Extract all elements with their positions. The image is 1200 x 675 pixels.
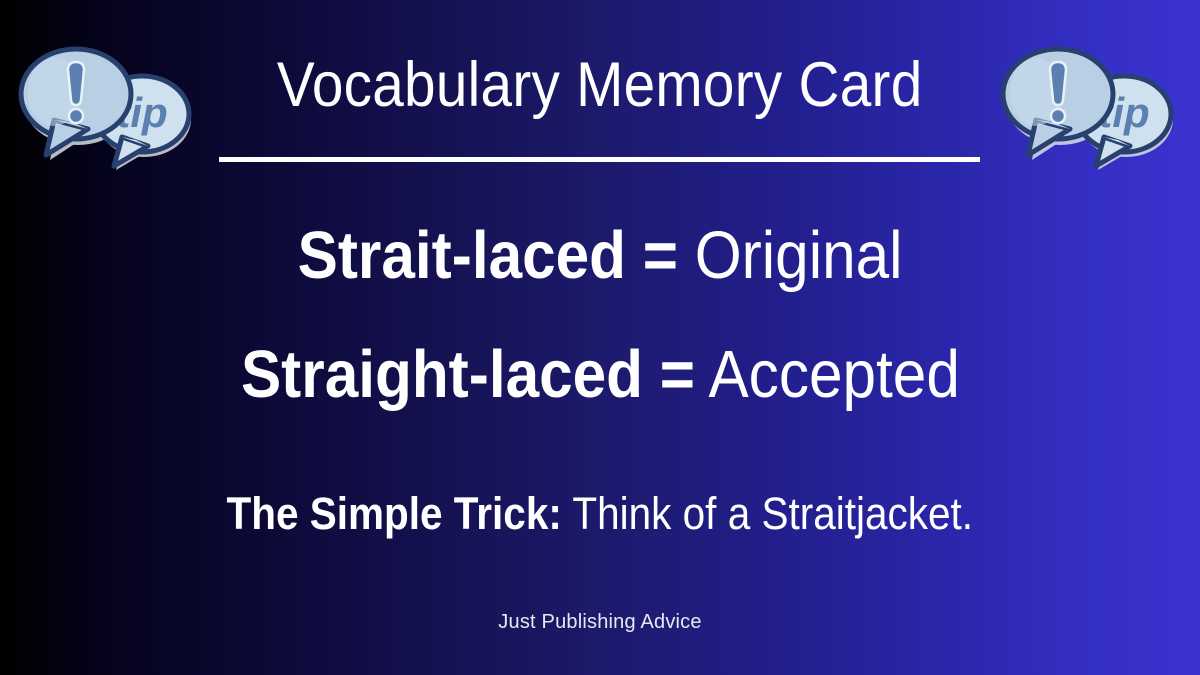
trick-line: The Simple Trick: Think of a Straitjacke… bbox=[0, 491, 1200, 536]
trick-body: Think of a Straitjacket. bbox=[573, 488, 974, 539]
trick-label: The Simple Trick: bbox=[227, 488, 562, 539]
definition-meaning-1: Original bbox=[695, 218, 903, 293]
definition-term-1: Strait-laced bbox=[298, 218, 626, 293]
definition-separator-2: = bbox=[659, 337, 694, 412]
definition-line-1: Strait-laced = Original bbox=[0, 222, 1200, 289]
vocabulary-memory-card: tip bbox=[0, 0, 1200, 675]
page-title: Vocabulary Memory Card bbox=[277, 54, 923, 117]
title-row: Vocabulary Memory Card bbox=[0, 54, 1200, 117]
definition-line-2: Straight-laced = Accepted bbox=[0, 341, 1200, 408]
definition-term-2: Straight-laced bbox=[241, 337, 643, 412]
title-divider bbox=[219, 157, 980, 162]
definition-separator-1: = bbox=[643, 218, 678, 293]
footer-brand: Just Publishing Advice bbox=[0, 612, 1200, 632]
definition-meaning-2: Accepted bbox=[708, 337, 959, 412]
